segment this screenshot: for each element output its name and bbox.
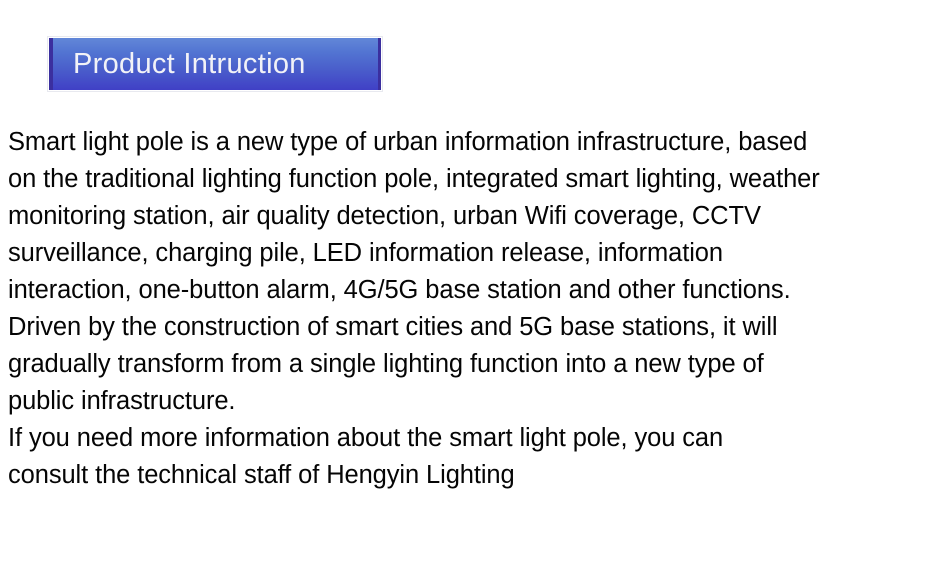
page-root: Product Intruction Smart light pole is a… xyxy=(0,0,950,572)
paragraph-1: Smart light pole is a new type of urban … xyxy=(8,124,942,420)
paragraph-2: If you need more information about the s… xyxy=(8,420,942,494)
product-description-body: Smart light pole is a new type of urban … xyxy=(8,124,942,494)
section-header-banner: Product Intruction xyxy=(47,36,383,92)
paragraph-1-line-1: Smart light pole is a new type of urban … xyxy=(8,124,942,161)
paragraph-1-line-7: gradually transform from a single lighti… xyxy=(8,346,942,383)
section-header-banner-fill: Product Intruction xyxy=(49,38,381,90)
paragraph-2-line-2: consult the technical staff of Hengyin L… xyxy=(8,457,942,494)
paragraph-1-line-8: public infrastructure. xyxy=(8,383,942,420)
paragraph-1-line-6: Driven by the construction of smart citi… xyxy=(8,309,942,346)
paragraph-1-line-3: monitoring station, air quality detectio… xyxy=(8,198,942,235)
page-title: Product Intruction xyxy=(53,50,306,79)
paragraph-1-line-2: on the traditional lighting function pol… xyxy=(8,161,942,198)
paragraph-1-line-5: interaction, one-button alarm, 4G/5G bas… xyxy=(8,272,942,309)
paragraph-2-line-1: If you need more information about the s… xyxy=(8,420,942,457)
paragraph-1-line-4: surveillance, charging pile, LED informa… xyxy=(8,235,942,272)
